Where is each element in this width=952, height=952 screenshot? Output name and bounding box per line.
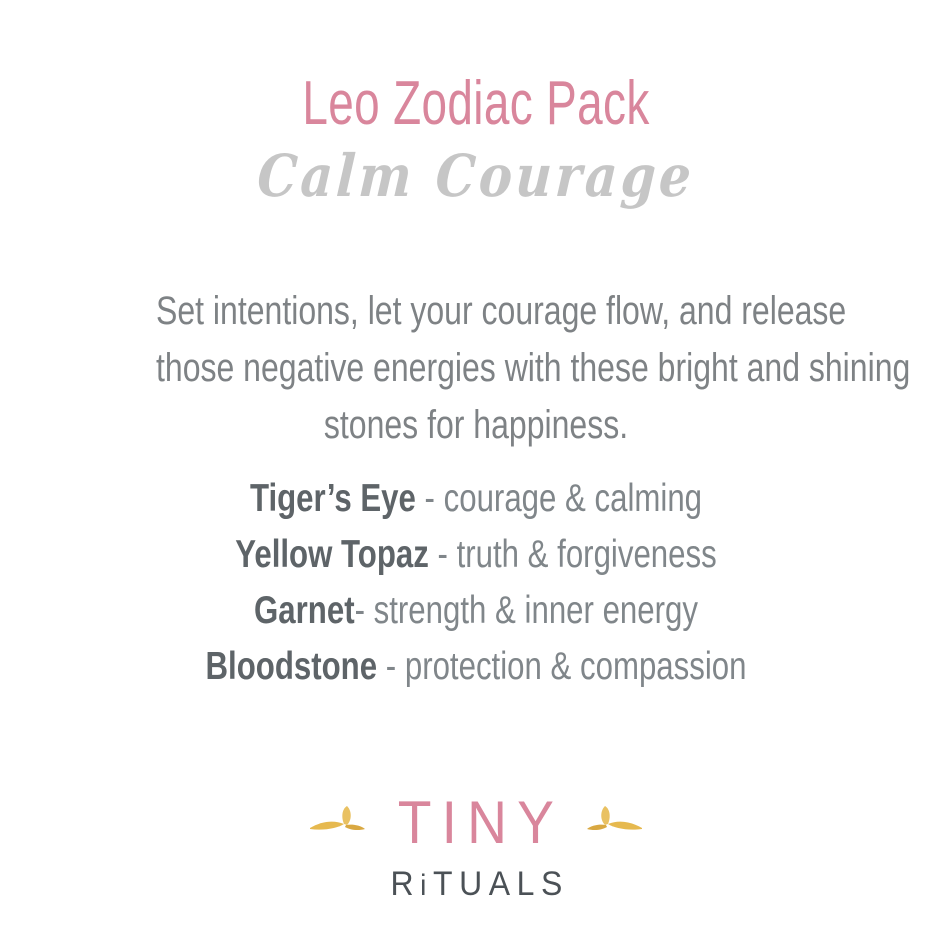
brand-logo-top-row: TINY: [308, 793, 644, 853]
brand-name-secondary: RiTUALS: [383, 867, 568, 901]
brand-secondary-suffix: TUALS: [433, 865, 569, 903]
stone-meaning: truth & forgiveness: [457, 533, 717, 576]
description-line: Set intentions, let your courage flow, a…: [156, 283, 796, 340]
product-info-card: Leo Zodiac Pack Calm Courage Set intenti…: [0, 0, 952, 952]
brand-secondary-prefix: R: [390, 865, 420, 903]
stone-name: Garnet: [254, 589, 355, 632]
stone-separator: -: [416, 477, 444, 520]
stone-separator: -: [377, 645, 405, 688]
brand-secondary-i: i: [420, 869, 433, 902]
stone-meaning: strength & inner energy: [374, 589, 698, 632]
stone-meaning: courage & calming: [444, 477, 702, 520]
stone-meaning: protection & compassion: [405, 645, 747, 688]
list-item: Tiger’s Eye - courage & calming: [95, 471, 857, 527]
brand-name-primary: TINY: [388, 793, 564, 853]
description-line: stones for happiness.: [156, 397, 796, 454]
brand-logo: TINY RiTUALS: [0, 793, 952, 901]
gold-sprig-icon: [308, 804, 366, 843]
product-description: Set intentions, let your courage flow, a…: [76, 283, 876, 454]
stone-separator: -: [355, 589, 374, 632]
stone-list: Tiger’s Eye - courage & calming Yellow T…: [0, 471, 952, 695]
stone-name: Bloodstone: [206, 645, 378, 688]
stone-name: Yellow Topaz: [235, 533, 429, 576]
stone-separator: -: [429, 533, 457, 576]
page-title: Leo Zodiac Pack: [124, 72, 828, 135]
stone-name: Tiger’s Eye: [250, 477, 416, 520]
list-item: Bloodstone - protection & compassion: [95, 639, 857, 695]
list-item: Garnet- strength & inner energy: [95, 583, 857, 639]
list-item: Yellow Topaz - truth & forgiveness: [95, 527, 857, 583]
gold-sprig-icon: [586, 804, 644, 843]
page-subtitle: Calm Courage: [65, 147, 887, 205]
title-block: Leo Zodiac Pack Calm Courage: [0, 72, 952, 205]
description-line: those negative energies with these brigh…: [156, 340, 796, 397]
